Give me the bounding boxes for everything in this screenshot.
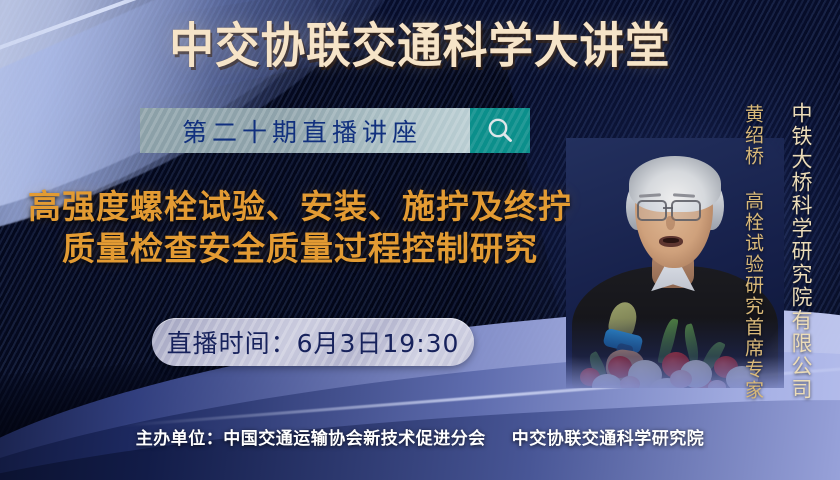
search-input-text: 第二十期直播讲座 [182,113,428,149]
lecture-subject: 高强度螺栓试验、安装、施拧及终拧 质量检查安全质量过程控制研究 [0,186,600,270]
glasses-lens-right [671,200,701,221]
lecture-subject-line1: 高强度螺栓试验、安装、施拧及终拧 [28,187,572,226]
livestream-time-label: 直播时间： [167,324,297,360]
livestream-time-badge: 直播时间： 6月3日19:30 [152,318,474,366]
speaker-organization: 中铁大桥科学研究院有限公司 [786,102,816,401]
footer-org-2: 中交协联交通科学研究院 [512,429,705,449]
speaker-mouth-inner [663,238,679,243]
search-input[interactable]: 第二十期直播讲座 [140,108,470,153]
search-icon [485,116,515,146]
lecture-subject-line2: 质量检查安全质量过程控制研究 [0,228,600,270]
livestream-time-value: 6月3日19:30 [297,324,460,360]
footer-organizers: 主办单位：中国交通运输协会新技术促进分会中交协联交通科学研究院 [0,424,840,449]
search-button[interactable] [470,108,530,153]
glasses-lens-left [637,200,667,221]
footer-prefix: 主办单位： [136,429,224,449]
speaker-nose [666,216,675,230]
livestream-poster: 中交协联交通科学大讲堂 第二十期直播讲座 高强度螺栓试验、安装、施拧及终拧 质量… [0,0,840,480]
footer-org-1: 中国交通运输协会新技术促进分会 [223,429,486,449]
page-title: 中交协联交通科学大讲堂 [29,22,810,70]
episode-search-bar[interactable]: 第二十期直播讲座 [140,108,530,153]
glasses-bridge [663,207,673,209]
speaker-name-role: 黄绍桥 高栓试验研究首席专家 [740,104,767,401]
